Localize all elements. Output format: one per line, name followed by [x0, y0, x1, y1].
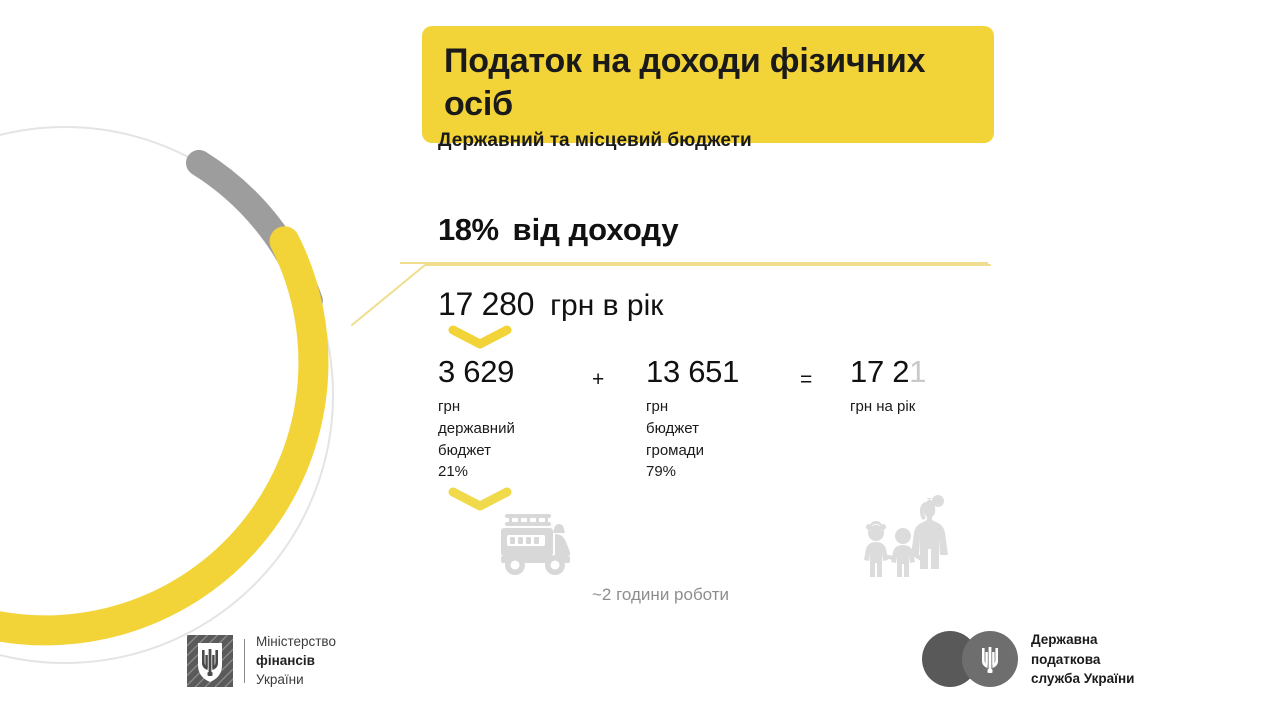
breakdown-state-budget: 3 629 грн державний бюджет 21% [438, 356, 515, 483]
community-budget-share: 79% [646, 461, 739, 483]
rate-label: від доходу [513, 212, 679, 248]
community-budget-caption: грн бюджет громади 79% [646, 396, 739, 483]
sum-value: 17 21 [850, 356, 926, 387]
tax-service-line2: податкова [1031, 650, 1134, 670]
sum-unit: грн на рік [850, 396, 926, 418]
state-budget-share: 21% [438, 461, 515, 483]
trident-emblem-icon [187, 635, 233, 687]
ministry-line2: фінансів [256, 651, 336, 670]
trident-circle-icon [922, 631, 1018, 687]
work-caption: ~2 години роботи [592, 585, 729, 605]
total-value: 17 280 [438, 286, 534, 323]
page-subtitle: Державний та місцевий бюджети [438, 130, 752, 152]
slide-canvas: Податок на доходи фізичних осіб Державни… [0, 0, 1280, 720]
state-budget-caption: грн державний бюджет 21% [438, 396, 515, 483]
divider-rule [400, 262, 988, 264]
operator-plus: + [592, 368, 604, 392]
logo-tax-service: Державна податкова служба України [922, 630, 1134, 689]
donut-track [0, 127, 333, 663]
ministry-line3: України [256, 670, 336, 689]
sum-value-shown: 17 2 [850, 354, 909, 389]
breakdown-community-budget: 13 651 грн бюджет громади 79% [646, 356, 739, 483]
sum-caption: грн на рік [850, 396, 926, 418]
state-budget-unit: грн [438, 396, 515, 418]
ministry-name: Міністерство фінансів України [256, 632, 336, 689]
family-icon [862, 492, 966, 584]
tax-service-name: Державна податкова служба України [1031, 630, 1134, 689]
state-budget-value: 3 629 [438, 356, 515, 387]
community-budget-line1: бюджет [646, 418, 739, 440]
chevron-down-icon [447, 324, 513, 350]
community-budget-value: 13 651 [646, 356, 739, 387]
donut-segment-community [0, 241, 365, 695]
state-budget-line2: бюджет [438, 440, 515, 462]
page-title: Податок на доходи фізичних осіб [444, 40, 972, 125]
sum-value-faded: 1 [909, 354, 926, 389]
total-row: 17 280 грн в рік [438, 286, 663, 323]
community-budget-unit: грн [646, 396, 739, 418]
rate-row: 18% від доходу [438, 212, 679, 248]
ministry-line1: Міністерство [256, 632, 336, 651]
breakdown-sum: 17 21 грн на рік [850, 356, 926, 418]
state-budget-line1: державний [438, 418, 515, 440]
donut-chart [0, 95, 365, 695]
logo-ministry-of-finance: Міністерство фінансів України [187, 632, 336, 689]
operator-equals: = [800, 368, 812, 392]
community-budget-line2: громади [646, 440, 739, 462]
tax-service-line3: служба України [1031, 669, 1134, 689]
breakdown-row: 3 629 грн державний бюджет 21% + 13 651 … [438, 356, 998, 486]
tax-service-line1: Державна [1031, 630, 1134, 650]
total-unit: грн в рік [550, 289, 663, 323]
title-banner: Податок на доходи фізичних осіб [422, 26, 994, 143]
rate-percent: 18% [438, 212, 499, 248]
logo-divider [244, 639, 245, 683]
fire-truck-icon [493, 508, 577, 576]
